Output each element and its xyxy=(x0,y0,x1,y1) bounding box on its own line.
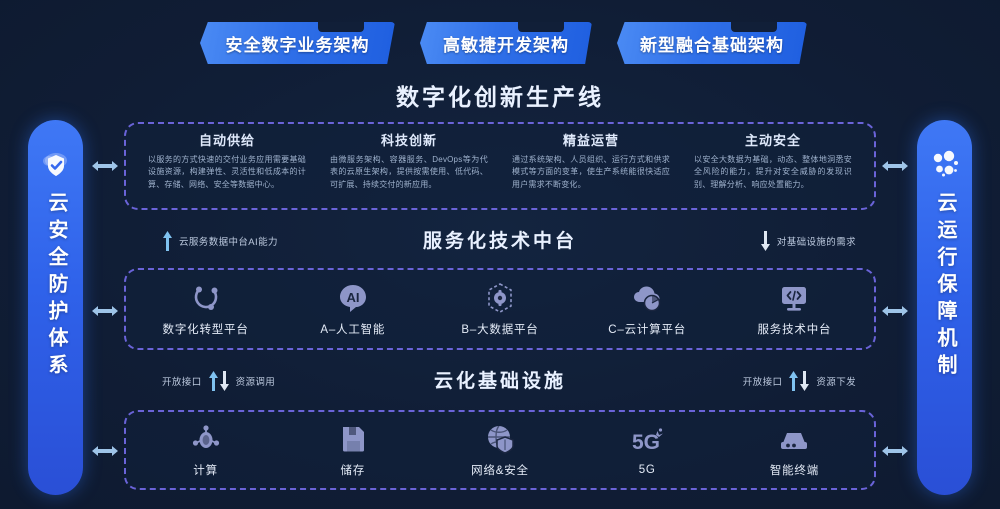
tile-label: A–人工智能 xyxy=(320,321,385,337)
tile-service-tech-platform[interactable]: 服务技术中台 xyxy=(721,281,868,337)
capability-body: 以安全大数据为基础，动态、整体地洞悉安全风险的能力，提升对安全威胁的发现识别、理… xyxy=(694,154,852,191)
tile-label: 计算 xyxy=(193,462,218,478)
tile-label: C–云计算平台 xyxy=(608,321,686,337)
tile-label: 数字化转型平台 xyxy=(163,321,249,337)
tab-secure-digital-business[interactable]: 安全数字业务架构 xyxy=(200,22,395,64)
arrow-down-icon xyxy=(760,230,771,252)
tab-agile-development[interactable]: 高敏捷开发架构 xyxy=(420,22,592,64)
tile-network-security[interactable]: 网络&安全 xyxy=(426,422,573,478)
cloud-infrastructure-band: 开放接口 资源调用 云化基础设施 开放接口 资源下发 xyxy=(124,358,876,404)
capability-body: 由微服务架构、容器服务、DevOps等为代表的云原生架构，提供按需使用、低代码、… xyxy=(330,154,488,191)
capability-title: 精益运营 xyxy=(512,130,670,149)
tab-notch xyxy=(731,21,777,32)
tile-big-data[interactable]: B–大数据平台 xyxy=(426,281,573,337)
bigdata-hex-icon xyxy=(481,281,519,315)
svg-text:5G: 5G xyxy=(632,431,660,454)
connector-arrow-left-mid xyxy=(90,303,120,319)
capability-body: 通过系统架构、人员组织、运行方式和供求模式等方面的变革，使生产系统能很快适应用户… xyxy=(512,154,670,191)
capability-column: 主动安全 以安全大数据为基础，动态、整体地洞悉安全风险的能力，提升对安全威胁的发… xyxy=(682,130,864,204)
tile-digital-transformation[interactable]: 数字化转型平台 xyxy=(132,281,279,337)
svg-text:AI: AI xyxy=(346,290,359,305)
infrastructure-tiles-panel: 计算 储存 xyxy=(124,410,876,490)
tile-compute[interactable]: 计算 xyxy=(132,422,279,478)
cloud-shield-check-icon xyxy=(39,148,73,182)
storage-save-icon xyxy=(334,422,372,456)
tile-label: 储存 xyxy=(341,462,366,478)
tab-label: 新型融合基础架构 xyxy=(640,31,784,56)
band-right-flow: 开放接口 资源下发 xyxy=(743,370,856,392)
band-right-label-a: 开放接口 xyxy=(743,374,783,388)
tile-5g[interactable]: 5G 5G xyxy=(574,424,721,476)
tile-label: 服务技术中台 xyxy=(758,321,832,337)
band-right-label-b: 资源下发 xyxy=(816,374,856,388)
connector-arrow-left-top xyxy=(90,158,120,174)
side-panel-cloud-security[interactable]: 云安全防护体系 xyxy=(28,120,83,495)
capability-body: 以服务的方式快速的交付业务应用需要基础设施资源，构建弹性、灵活性和低成本的计算、… xyxy=(148,154,306,191)
capability-column: 自动供给 以服务的方式快速的交付业务应用需要基础设施资源，构建弹性、灵活性和低成… xyxy=(136,130,318,204)
tile-label: 智能终端 xyxy=(770,462,819,478)
tile-smart-terminal[interactable]: 智能终端 xyxy=(721,422,868,478)
side-panel-label: 云安全防护体系 xyxy=(45,192,66,381)
particles-circle-icon xyxy=(928,148,962,182)
connector-arrow-right-mid xyxy=(880,303,910,319)
infographic-root: 安全数字业务架构 高敏捷开发架构 新型融合基础架构 数字化创新生产线 云安全防护… xyxy=(0,0,1000,509)
tile-artificial-intelligence[interactable]: AI A–人工智能 xyxy=(279,281,426,337)
capability-column: 科技创新 由微服务架构、容器服务、DevOps等为代表的云原生架构，提供按需使用… xyxy=(318,130,500,204)
tab-label: 高敏捷开发架构 xyxy=(443,31,569,56)
fiveg-icon: 5G xyxy=(628,424,666,458)
tab-notch xyxy=(318,21,364,32)
connector-arrow-left-bottom xyxy=(90,443,120,459)
capability-title: 科技创新 xyxy=(330,130,488,149)
monitor-code-icon xyxy=(775,281,813,315)
architecture-tabs: 安全数字业务架构 高敏捷开发架构 新型融合基础架构 xyxy=(0,22,1000,68)
capability-column: 精益运营 通过系统架构、人员组织、运行方式和供求模式等方面的变革，使生产系统能很… xyxy=(500,130,682,204)
ai-brain-icon: AI xyxy=(334,281,372,315)
transform-circle-icon xyxy=(187,281,225,315)
tile-label: 网络&安全 xyxy=(471,462,529,478)
tile-cloud-computing[interactable]: C–云计算平台 xyxy=(574,281,721,337)
cloud-pie-icon xyxy=(628,281,666,315)
side-panel-label: 云运行保障机制 xyxy=(934,192,955,381)
band-right-flow: 对基础设施的需求 xyxy=(760,230,856,252)
capability-title: 主动安全 xyxy=(694,130,852,149)
band-right-label: 对基础设施的需求 xyxy=(777,234,856,248)
tab-notch xyxy=(518,21,564,32)
connector-arrow-right-top xyxy=(880,158,910,174)
tab-converged-infrastructure[interactable]: 新型融合基础架构 xyxy=(617,22,807,64)
network-shield-icon xyxy=(481,422,519,456)
side-panel-cloud-operations[interactable]: 云运行保障机制 xyxy=(917,120,972,495)
smart-terminal-icon xyxy=(775,422,813,456)
tile-storage[interactable]: 储存 xyxy=(279,422,426,478)
tile-label: 5G xyxy=(639,464,656,476)
compute-node-icon xyxy=(187,422,225,456)
tab-label: 安全数字业务架构 xyxy=(226,31,370,56)
service-platform-band: 云服务数据中台AI能力 服务化技术中台 对基础设施的需求 xyxy=(124,218,876,264)
arrow-up-down-icon xyxy=(788,370,810,392)
tile-label: B–大数据平台 xyxy=(461,321,538,337)
capabilities-panel: 自动供给 以服务的方式快速的交付业务应用需要基础设施资源，构建弹性、灵活性和低成… xyxy=(124,122,876,210)
platform-tiles-panel: 数字化转型平台 AI A–人工智能 xyxy=(124,268,876,350)
connector-arrow-right-bottom xyxy=(880,443,910,459)
page-title: 数字化创新生产线 xyxy=(0,78,1000,112)
capability-title: 自动供给 xyxy=(148,130,306,149)
